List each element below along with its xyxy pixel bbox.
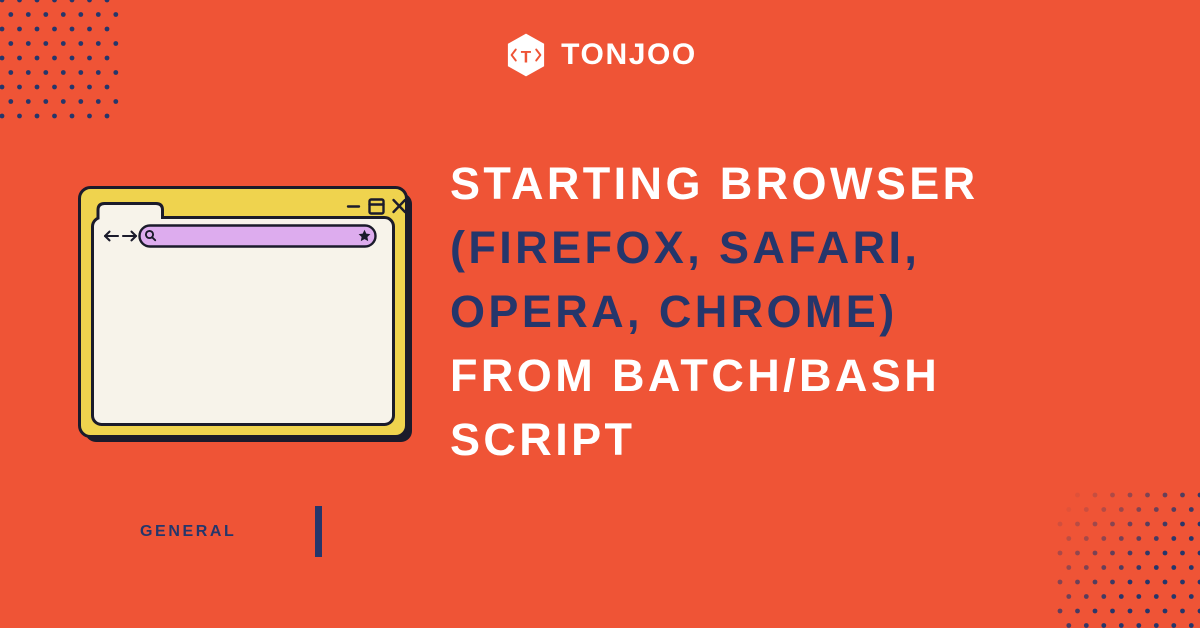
title-line-1: Starting Browser <box>450 152 1070 216</box>
brand-logo: T TONJOO <box>0 32 1200 78</box>
title-line-5: Script <box>450 408 1070 472</box>
category-label: General <box>140 524 236 540</box>
browser-window-illustration <box>78 186 414 444</box>
tonjoo-wordmark: TONJOO <box>561 40 697 70</box>
address-bar <box>140 226 376 247</box>
title-line-2: (Firefox, Safari, <box>450 216 1070 280</box>
decorative-dot-pattern-bottom-right <box>1054 489 1200 628</box>
browser-page <box>93 218 394 425</box>
page-title: Starting Browser (Firefox, Safari, Opera… <box>450 152 1070 472</box>
category-divider <box>315 506 322 557</box>
svg-text:T: T <box>521 48 532 67</box>
cover-canvas: T TONJOO <box>0 0 1200 628</box>
tonjoo-hexagon-logo-icon: T <box>503 32 549 78</box>
browser-tab <box>98 204 163 218</box>
title-line-3: Opera, Chrome) <box>450 280 1070 344</box>
category-block: General <box>140 506 322 557</box>
title-line-4: From Batch/Bash <box>450 344 1070 408</box>
